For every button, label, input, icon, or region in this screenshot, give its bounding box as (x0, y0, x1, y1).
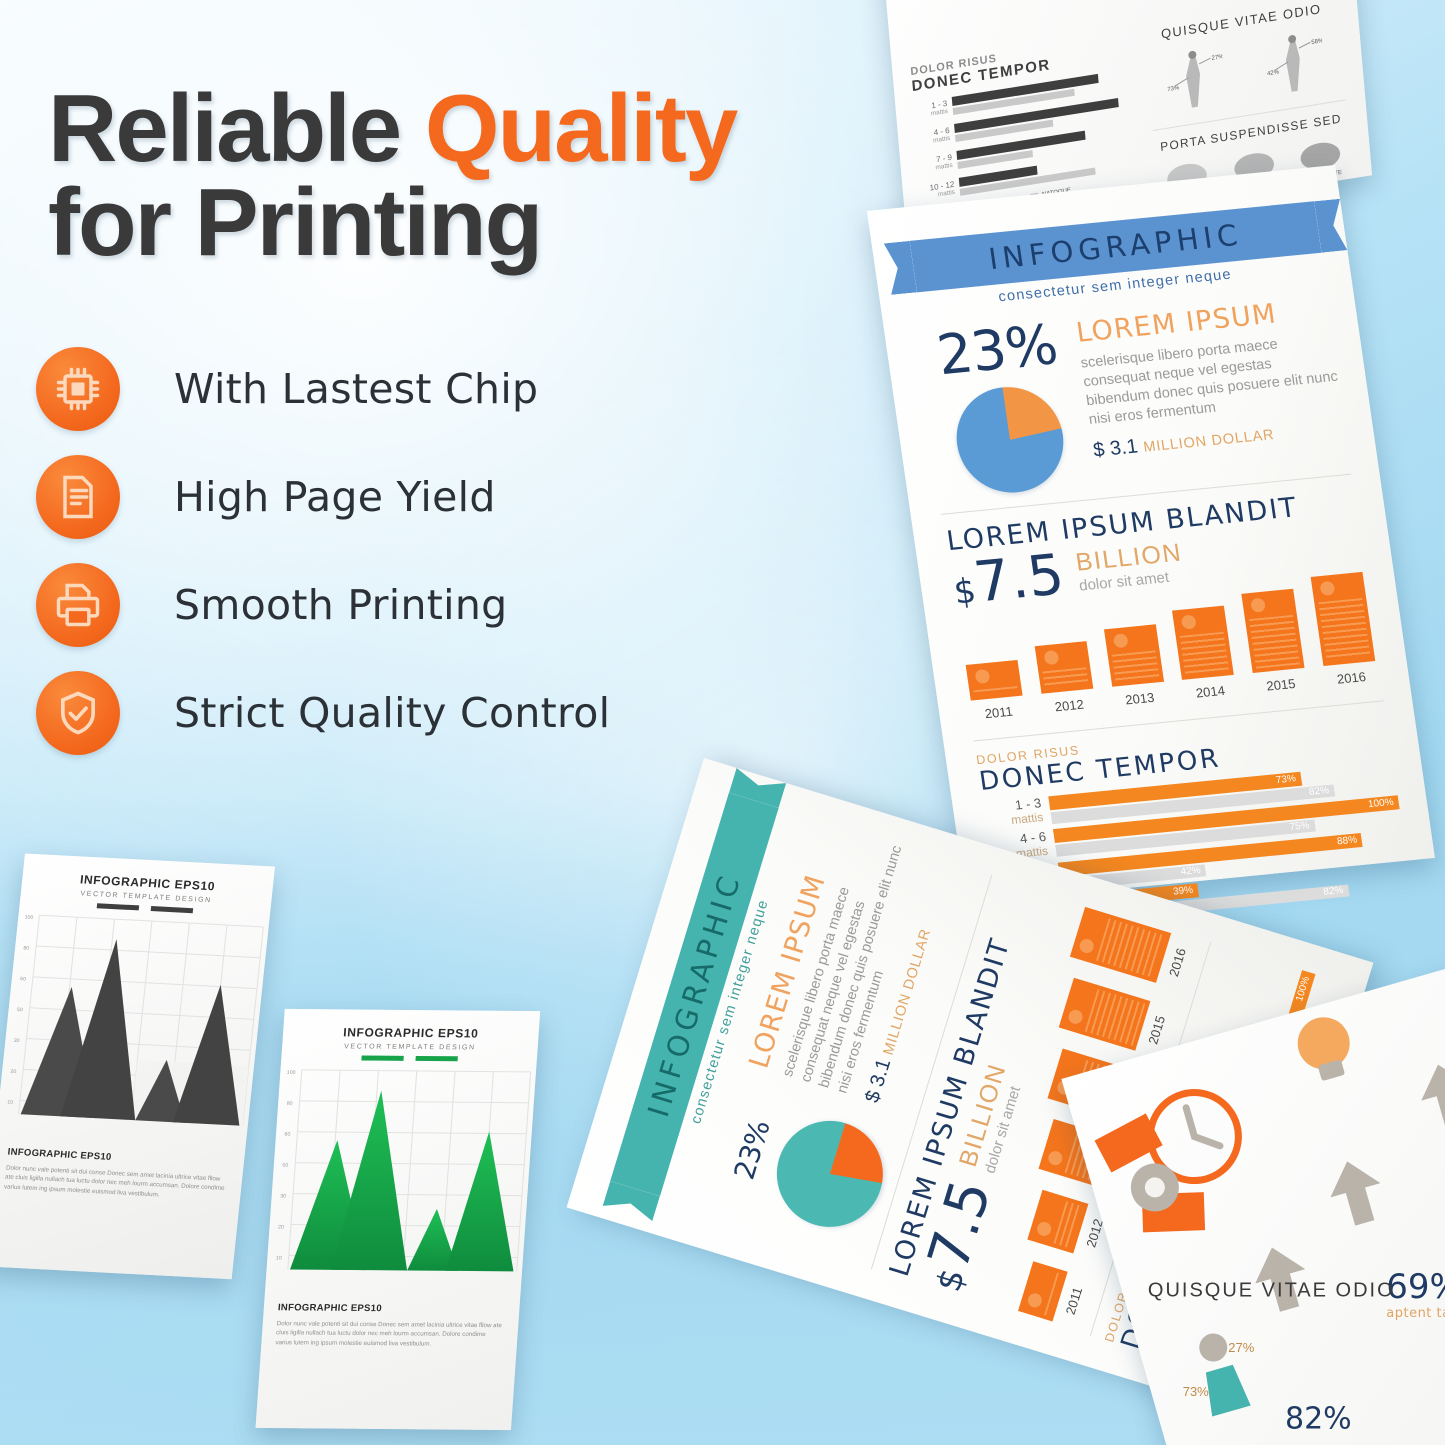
eps-subtitle: VECTOR TEMPLATE DESIGN (282, 1043, 538, 1052)
eps-footer: INFOGRAPHIC EPS10 Dolor nunc vale potent… (0, 1133, 246, 1204)
year-bar: 2016 (1070, 906, 1193, 990)
svg-text:10: 10 (276, 1255, 282, 1261)
svg-text:50: 50 (282, 1163, 288, 1169)
page-title: Reliable Quality for Printing (48, 82, 868, 270)
eps-sheet-green: INFOGRAPHIC EPS10 VECTOR TEMPLATE DESIGN… (255, 1009, 540, 1430)
feature-label: With Lastest Chip (174, 365, 538, 413)
pie-stat: 23% (918, 311, 1093, 500)
pie-chart (764, 1108, 896, 1240)
year-bar: 2012 (1034, 641, 1098, 716)
svg-text:58%: 58% (1312, 38, 1325, 46)
year-bar: 2015 (1059, 977, 1172, 1058)
year-bar: 2015 (1241, 589, 1309, 695)
section-body: scelerisque libero porta maece consequat… (1080, 330, 1344, 431)
pie-chart (950, 382, 1071, 497)
headline-line1-plain: Reliable (48, 75, 425, 182)
svg-text:42%: 42% (1267, 69, 1280, 77)
year-bar-chart: 2011 2012 2013 2014 2015 2016 (960, 592, 1380, 723)
stat-69: 69% aptent taciti sociosqu (1386, 1267, 1445, 1322)
svg-text:100: 100 (286, 1070, 295, 1076)
document-icon (36, 455, 120, 539)
svg-text:30: 30 (13, 1038, 20, 1044)
feature-label: High Page Yield (174, 473, 496, 521)
stat-27: 27% (1228, 1340, 1254, 1355)
headline-line1-accent: Quality (425, 75, 736, 182)
svg-text:80: 80 (286, 1101, 292, 1107)
eps-footer-text: Dolor nunc vale potenti sit dui conse Do… (275, 1319, 504, 1349)
stat-82: 82% (1285, 1401, 1352, 1436)
pie-percent-label: 23% (918, 311, 1077, 389)
feature-item-chip: With Lastest Chip (36, 336, 676, 442)
spike-area-chart: 1008060 50302010 (265, 1060, 537, 1292)
infographic-sheet-main: INFOGRAPHIC consectetur sem integer nequ… (867, 165, 1435, 904)
feature-item-page-yield: High Page Yield (36, 444, 676, 550)
eps-sheet-gray: INFOGRAPHIC EPS10 VECTOR TEMPLATE DESIGN… (0, 853, 275, 1279)
svg-text:27%: 27% (1212, 54, 1225, 62)
feature-label: Strict Quality Control (174, 689, 610, 737)
year-bar: 2016 (1310, 572, 1380, 688)
eps-footer: INFOGRAPHIC EPS10 Dolor nunc vale potent… (261, 1289, 521, 1349)
headline-line2: for Printing (48, 169, 541, 276)
eps-title: INFOGRAPHIC EPS10 (343, 1025, 479, 1040)
svg-text:60: 60 (284, 1132, 290, 1138)
eps-footer-text: Dolor nunc vale potenti sit dui conse Do… (4, 1163, 229, 1202)
shield-check-icon (36, 671, 120, 755)
svg-text:80: 80 (23, 945, 30, 951)
svg-text:50: 50 (17, 1007, 24, 1013)
svg-text:20: 20 (278, 1225, 284, 1231)
eps-footer-title: INFOGRAPHIC EPS10 (7, 1147, 112, 1163)
blandit-value: $7.5 (949, 548, 1067, 611)
year-bar: 2011 (965, 660, 1027, 723)
eps-header: INFOGRAPHIC EPS10 VECTOR TEMPLATE DESIGN (282, 1009, 540, 1052)
feature-item-smooth-printing: Smooth Printing (36, 552, 676, 658)
stat-73: 73% (1183, 1384, 1209, 1399)
chip-icon (36, 347, 120, 431)
svg-text:20: 20 (10, 1069, 17, 1075)
year-bar: 2011 (1018, 1260, 1089, 1329)
eps-title: INFOGRAPHIC EPS10 (79, 872, 215, 893)
svg-text:60: 60 (20, 976, 27, 982)
person-icon: 58% 42% (1264, 30, 1327, 101)
eps-footer-title: INFOGRAPHIC EPS10 (278, 1302, 383, 1314)
svg-text:73%: 73% (1167, 85, 1180, 93)
spike-area-chart: 1008060 50302010 (0, 904, 270, 1146)
feature-list: With Lastest Chip High Page Yield Smooth… (36, 336, 676, 768)
feature-label: Smooth Printing (174, 581, 507, 629)
svg-text:10: 10 (7, 1100, 14, 1106)
svg-text:100: 100 (24, 915, 33, 921)
person-icon: 27% 73% (1164, 46, 1227, 117)
poster-canvas: Reliable Quality for Printing With Laste… (0, 0, 1445, 1445)
year-bar: 2013 (1103, 624, 1168, 708)
feature-item-quality-control: Strict Quality Control (36, 660, 676, 766)
printer-icon (36, 563, 120, 647)
svg-text:30: 30 (280, 1194, 286, 1200)
lightbulb-icon (1292, 1011, 1359, 1085)
year-bar: 2014 (1171, 606, 1238, 702)
icons-section-title: QUISQUE VITAE ODIO (1148, 1279, 1395, 1302)
